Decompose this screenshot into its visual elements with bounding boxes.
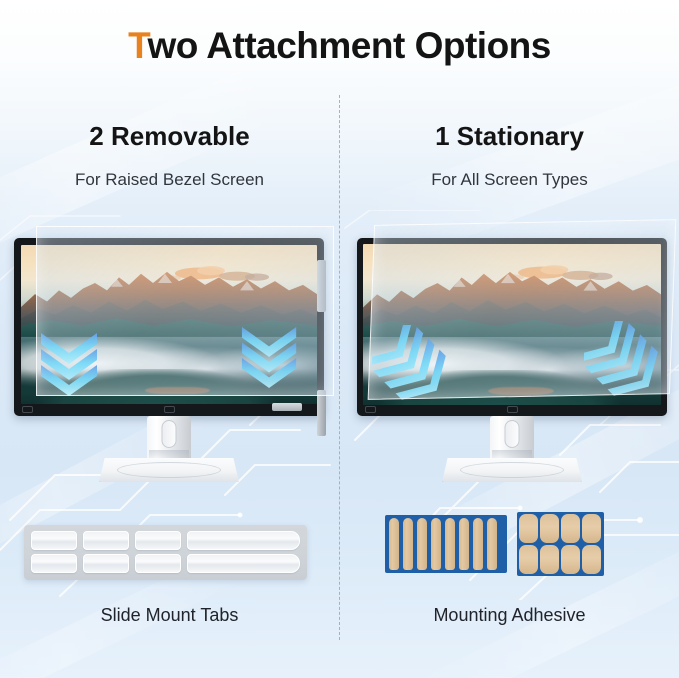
tab-piece (83, 531, 129, 550)
tab-piece (135, 554, 181, 573)
column-subheading-removable: For Raised Bezel Screen (0, 170, 339, 190)
column-heading-removable: 2 Removable (0, 121, 339, 152)
monitor-stand (442, 416, 582, 482)
tab-piece (83, 554, 129, 573)
adhesive-strip (403, 518, 413, 570)
stand-cable-slot (505, 420, 520, 448)
infographic-canvas: Two Attachment Options 2 Removable For R… (0, 0, 679, 678)
adhesive-strip-sheet (385, 515, 507, 573)
slide-tab-nub (272, 403, 302, 411)
raised-bezel-strip (317, 390, 326, 436)
adhesive-strip (389, 518, 399, 570)
adhesive-pad (519, 545, 538, 574)
bezel-indicator-icon (164, 406, 175, 413)
tab-piece (31, 554, 77, 573)
privacy-filter-panel (36, 226, 334, 396)
adhesive-strip (417, 518, 427, 570)
tab-piece (31, 531, 77, 550)
column-removable: 2 Removable For Raised Bezel Screen (0, 0, 339, 678)
monitor-stationary (357, 238, 667, 416)
adhesive-pad (540, 514, 559, 543)
bezel-indicator-icon (22, 406, 33, 413)
adhesive-strip (445, 518, 455, 570)
adhesive-strip (459, 518, 469, 570)
adhesive-grid-sheet (517, 512, 604, 576)
adhesive-pad (582, 514, 601, 543)
adhesive-pad (540, 545, 559, 574)
stand-cable-slot (162, 420, 177, 448)
monitor-removable (14, 238, 324, 416)
adhesive-strip (431, 518, 441, 570)
adhesive-pad (582, 545, 601, 574)
adhesive-strip (473, 518, 483, 570)
stand-base-ellipse (460, 462, 564, 478)
bezel-indicator-icon (507, 406, 518, 413)
tab-piece-long (187, 531, 300, 550)
adhesive-pad (519, 514, 538, 543)
stand-base-ellipse (117, 462, 221, 478)
accessory-caption-left: Slide Mount Tabs (0, 605, 339, 626)
adhesive-pad (561, 545, 580, 574)
column-heading-stationary: 1 Stationary (340, 121, 679, 152)
slide-mount-tabs-inner (31, 531, 300, 574)
column-subheading-stationary: For All Screen Types (340, 170, 679, 190)
adhesive-pad (561, 514, 580, 543)
tab-piece (135, 531, 181, 550)
tab-piece-long (187, 554, 300, 573)
column-stationary: 1 Stationary For All Screen Types (340, 0, 679, 678)
monitor-stand (99, 416, 239, 482)
accessory-caption-right: Mounting Adhesive (340, 605, 679, 626)
adhesive-strip (487, 518, 497, 570)
slide-mount-tabs-sheet (24, 525, 307, 580)
privacy-filter-panel (368, 219, 677, 400)
bezel-indicator-icon (365, 406, 376, 413)
